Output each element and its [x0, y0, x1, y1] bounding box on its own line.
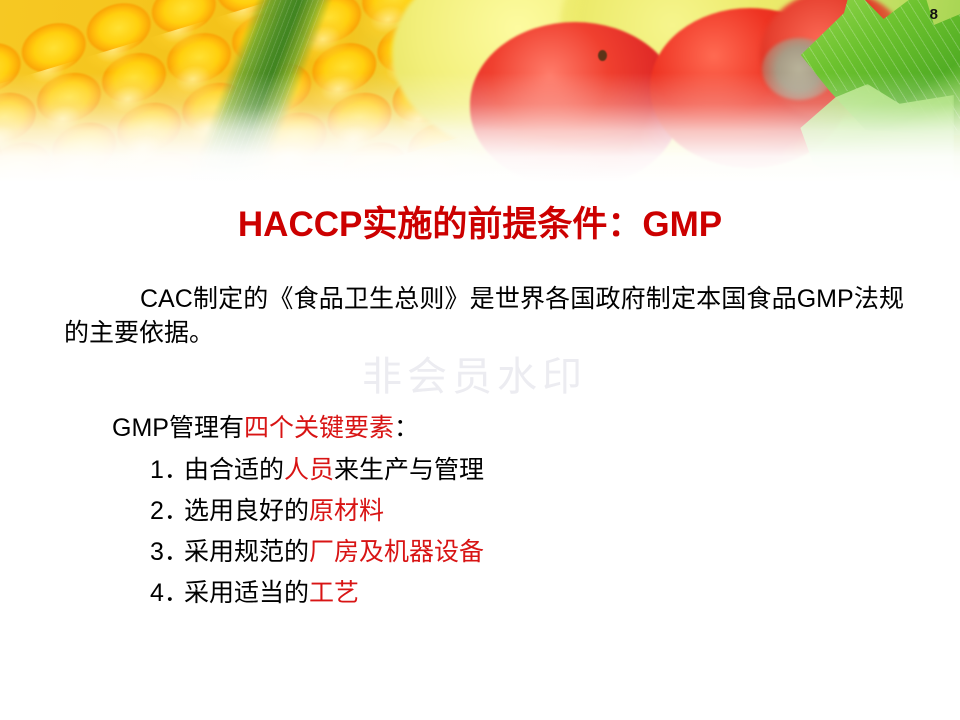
list-item: 3．采用规范的厂房及机器设备 [112, 532, 872, 573]
list-intro-prefix: GMP管理有 [112, 414, 244, 442]
list-intro-highlight: 四个关键要素 [244, 414, 394, 442]
list-item-highlight: 厂房及机器设备 [309, 538, 484, 566]
list-item-lead: 由合适的 [184, 456, 284, 484]
list-item: 1．由合适的人员来生产与管理 [112, 450, 872, 491]
watermark: 非会员水印 [362, 344, 587, 402]
list-item-highlight: 工艺 [309, 579, 359, 607]
list-intro-suffix: ： [394, 414, 419, 442]
page-title-latin-prefix: HACCP [238, 205, 362, 244]
list-item-number: 1． [150, 450, 184, 491]
list-item-highlight: 原材料 [309, 497, 384, 525]
list-item-lead: 选用良好的 [184, 497, 309, 525]
list-intro: GMP管理有四个关键要素： [112, 410, 872, 446]
key-elements-list: 1．由合适的人员来生产与管理 2．选用良好的原材料 3．采用规范的厂房及机器设备… [112, 450, 872, 614]
list-item: 2．选用良好的原材料 [112, 491, 872, 532]
list-item-number: 3． [150, 532, 184, 573]
page-title-cjk: 实施的前提条件： [362, 205, 642, 244]
banner-white-fade-lower-left [0, 0, 960, 182]
list-item-lead: 采用适当的 [184, 579, 309, 607]
body-paragraph: CAC制定的《食品卫生总则》是世界各国政府制定本国食品GMP法规的主要依据。 [64, 282, 904, 350]
slide: 8 HACCP实施的前提条件：GMP CAC制定的《食品卫生总则》是世界各国政府… [0, 0, 960, 720]
page-number: 8 [930, 6, 938, 23]
key-elements-block: GMP管理有四个关键要素： 1．由合适的人员来生产与管理 2．选用良好的原材料 … [112, 410, 872, 614]
list-item-lead: 采用规范的 [184, 538, 309, 566]
list-item-number: 4． [150, 573, 184, 614]
page-title-latin-suffix: GMP [642, 205, 722, 244]
page-title: HACCP实施的前提条件：GMP [0, 196, 960, 247]
list-item: 4．采用适当的工艺 [112, 573, 872, 614]
list-item-number: 2． [150, 491, 184, 532]
list-item-highlight: 人员 [284, 456, 334, 484]
list-item-tail: 来生产与管理 [334, 456, 484, 484]
banner-image [0, 0, 960, 182]
